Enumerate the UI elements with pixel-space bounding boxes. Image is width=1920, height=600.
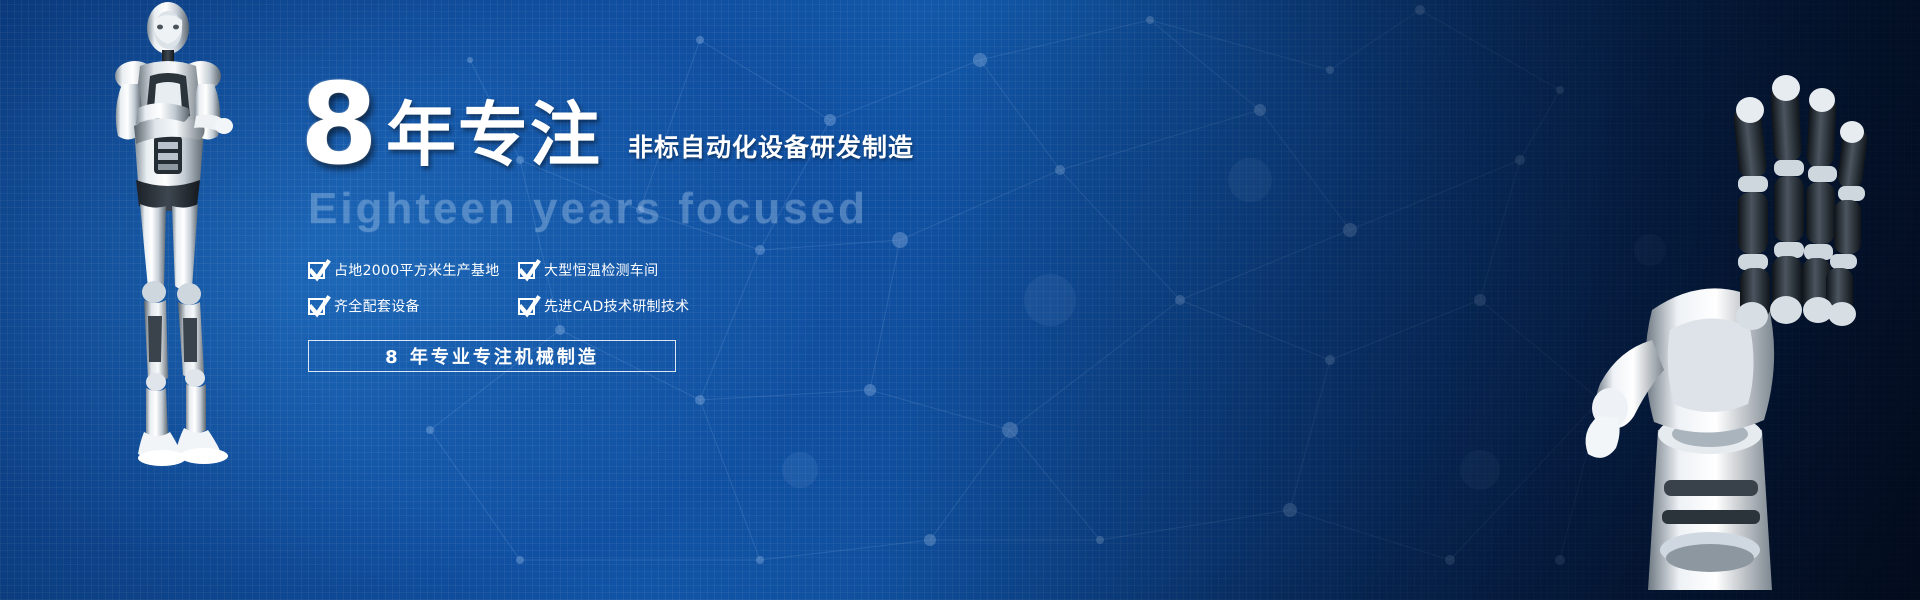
feature-label: 齐全配套设备 <box>334 296 420 316</box>
humanoid-robot-figure <box>78 0 258 490</box>
feature-label: 占地2000平方米生产基地 <box>334 260 500 280</box>
headline-number: 8 <box>300 72 376 178</box>
hero-banner: 8 年专注 非标自动化设备研发制造 Eighteen years focused… <box>0 0 1920 600</box>
feature-item: 占地2000平方米生产基地 <box>308 260 518 280</box>
robotic-hand-figure <box>1540 10 1900 590</box>
feature-item: 齐全配套设备 <box>308 296 518 316</box>
feature-label: 大型恒温检测车间 <box>544 260 658 280</box>
headline-subtitle: 非标自动化设备研发制造 <box>628 128 914 178</box>
headline-row: 8 年专注 非标自动化设备研发制造 <box>300 72 1060 178</box>
feature-label: 先进CAD技术研制技术 <box>544 296 689 316</box>
headline-word: 年专注 <box>386 100 602 178</box>
feature-item: 大型恒温检测车间 <box>518 260 728 280</box>
check-icon <box>518 298 535 315</box>
check-icon <box>308 262 325 279</box>
check-icon <box>518 262 535 279</box>
tagline-box: 8 年专业专注机械制造 <box>308 340 676 372</box>
feature-item: 先进CAD技术研制技术 <box>518 296 728 316</box>
tagline-text: 8 年专业专注机械制造 <box>385 343 599 369</box>
check-icon <box>308 298 325 315</box>
banner-content: 8 年专注 非标自动化设备研发制造 Eighteen years focused… <box>300 72 1060 372</box>
feature-list: 占地2000平方米生产基地 大型恒温检测车间 齐全配套设备 先进CAD技术研制技… <box>308 260 728 316</box>
english-tagline: Eighteen years focused <box>308 184 1060 234</box>
